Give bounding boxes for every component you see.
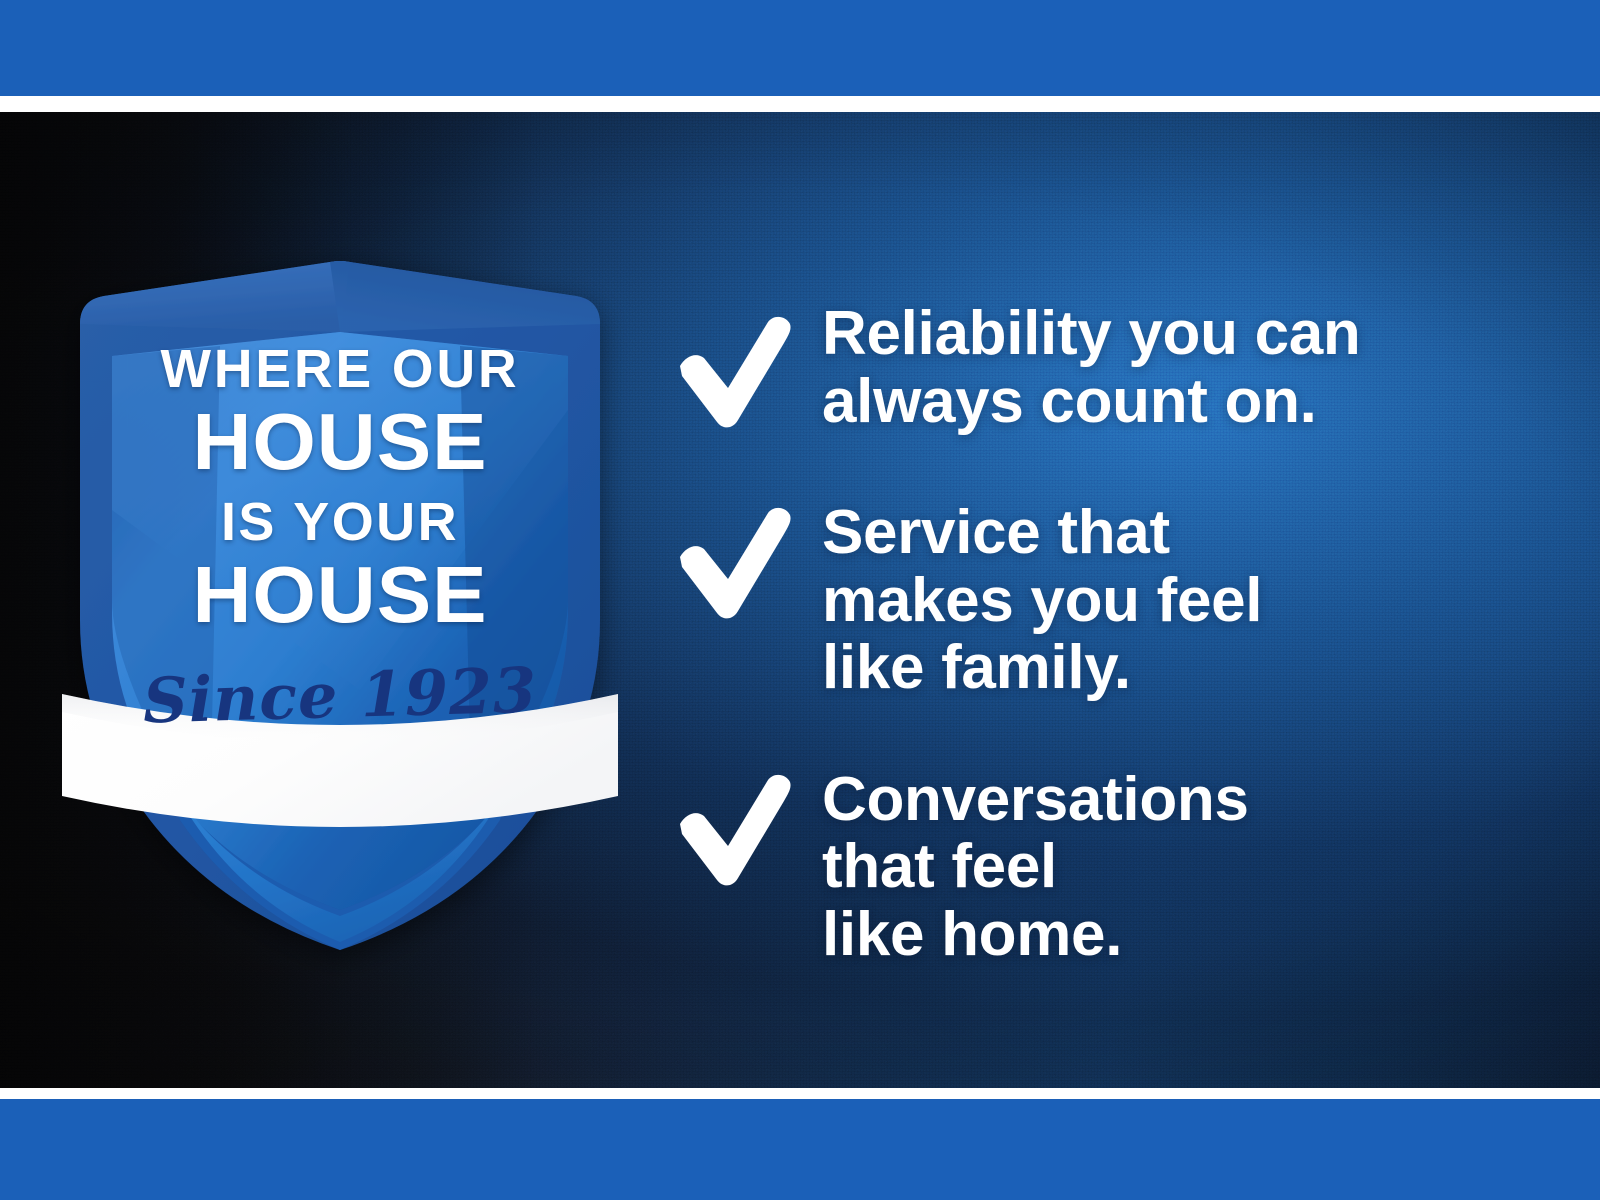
shield-top-bevel-left [80, 261, 350, 332]
benefit-text-service: Service that makes you feel like family. [822, 499, 1262, 702]
benefit-item-conversations: Conversations that feel like home. [676, 760, 1516, 969]
bottom-brand-bar [0, 1099, 1600, 1200]
benefit-text-reliability: Reliability you can always count on. [822, 300, 1361, 435]
promo-graphic: WHERE OUR HOUSE IS YOUR HOUSE Since 1923… [0, 0, 1600, 1200]
benefit-item-reliability: Reliability you can always count on. [676, 302, 1516, 435]
benefit-item-service: Service that makes you feel like family. [676, 493, 1516, 702]
check-icon [676, 770, 794, 890]
shield-body [80, 261, 600, 950]
brand-emblem: WHERE OUR HOUSE IS YOUR HOUSE Since 1923 [60, 260, 620, 940]
top-brand-bar [0, 0, 1600, 96]
check-icon [676, 312, 794, 432]
check-icon [676, 503, 794, 623]
benefit-text-conversations: Conversations that feel like home. [822, 766, 1249, 969]
shield-top-bevel-right [330, 261, 600, 332]
benefits-list: Reliability you can always count on. Ser… [676, 302, 1516, 969]
main-panel: WHERE OUR HOUSE IS YOUR HOUSE Since 1923… [0, 112, 1600, 1088]
